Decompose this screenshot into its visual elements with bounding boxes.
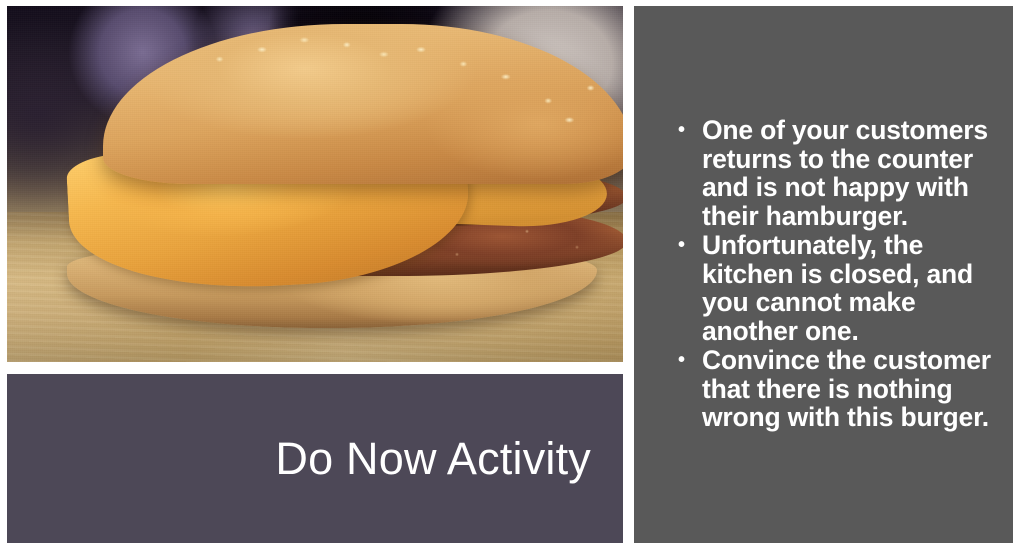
list-item: Convince the customer that there is noth… <box>678 346 991 432</box>
photo-grain-overlay <box>7 6 623 362</box>
list-item: One of your customers returns to the cou… <box>678 116 991 230</box>
body-panel: One of your customers returns to the cou… <box>634 6 1013 543</box>
bullet-list: One of your customers returns to the cou… <box>678 116 991 433</box>
title-band: Do Now Activity <box>7 374 623 543</box>
list-item: Unfortunately, the kitchen is closed, an… <box>678 231 991 345</box>
page-title: Do Now Activity <box>275 434 623 484</box>
hamburger-photo <box>7 6 623 362</box>
presentation-slide: Do Now Activity One of your customers re… <box>0 0 1021 551</box>
